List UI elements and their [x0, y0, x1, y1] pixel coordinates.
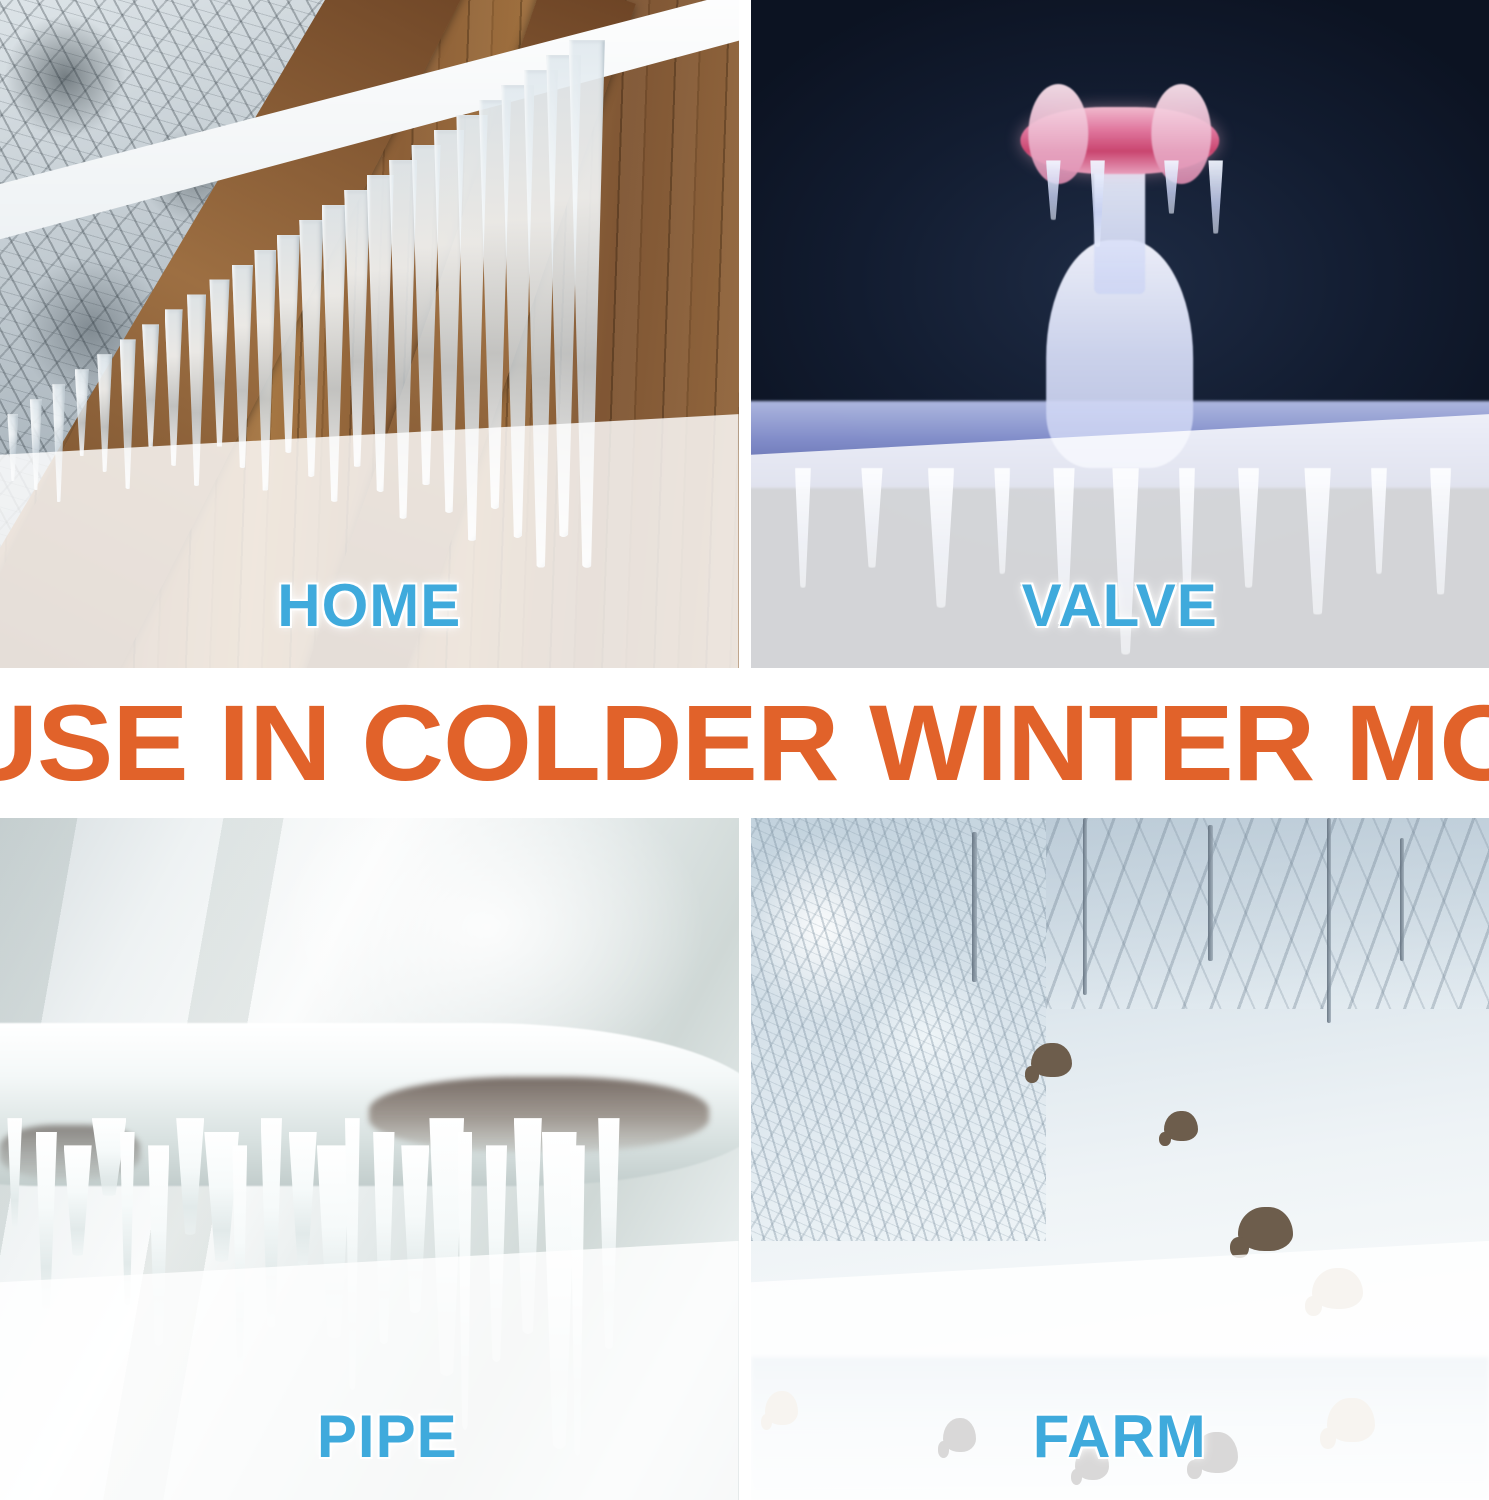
- icicle: [299, 220, 323, 478]
- product-feature-poster: HOME VALVE USE IN COLDER WINTER MONTHS: [0, 0, 1489, 1500]
- frosted-trees: [751, 818, 1046, 1241]
- sheep: [1238, 1207, 1293, 1251]
- valve-scene: [751, 0, 1489, 668]
- frosted-structures: [1016, 818, 1489, 1009]
- panel-home[interactable]: HOME: [0, 0, 739, 668]
- sheep: [1312, 1268, 1364, 1309]
- sheep: [1164, 1111, 1198, 1141]
- icicle: [165, 309, 183, 465]
- tree-trunk: [1083, 818, 1087, 995]
- page-headline: USE IN COLDER WINTER MONTHS: [0, 689, 1489, 797]
- icicle: [142, 324, 159, 446]
- tree-trunk: [1400, 838, 1404, 961]
- caption-farm: FARM: [751, 1402, 1489, 1471]
- tree-trunk: [1327, 818, 1331, 1023]
- icicle: [7, 414, 18, 481]
- panel-row-top: HOME VALVE: [0, 0, 1489, 668]
- icicle: [322, 205, 347, 502]
- pipe-scene: [0, 818, 739, 1500]
- icicle: [277, 235, 300, 454]
- icicle: [30, 399, 42, 490]
- icicle: [209, 279, 229, 446]
- icicle: [569, 40, 605, 568]
- home-scene: [0, 0, 739, 668]
- headline-band: USE IN COLDER WINTER MONTHS: [0, 668, 1489, 818]
- tree-trunk: [1208, 825, 1213, 961]
- sheep: [1031, 1043, 1072, 1077]
- caption-valve: VALVE: [751, 571, 1489, 640]
- panel-farm[interactable]: FARM: [751, 818, 1489, 1500]
- icicle: [232, 265, 253, 469]
- icicle: [187, 294, 206, 485]
- icicle: [97, 354, 112, 472]
- panel-pipe[interactable]: PIPE: [0, 818, 739, 1500]
- icicle: [254, 250, 276, 491]
- icicle: [75, 369, 89, 456]
- icicle: [120, 339, 136, 489]
- farm-scene: [751, 818, 1489, 1500]
- tree-trunk: [972, 832, 977, 982]
- caption-home: HOME: [0, 571, 739, 640]
- panel-valve[interactable]: VALVE: [751, 0, 1489, 668]
- caption-pipe: PIPE: [18, 1402, 739, 1471]
- icicle: [52, 384, 65, 502]
- panel-row-bottom: PIPE FARM: [0, 818, 1489, 1500]
